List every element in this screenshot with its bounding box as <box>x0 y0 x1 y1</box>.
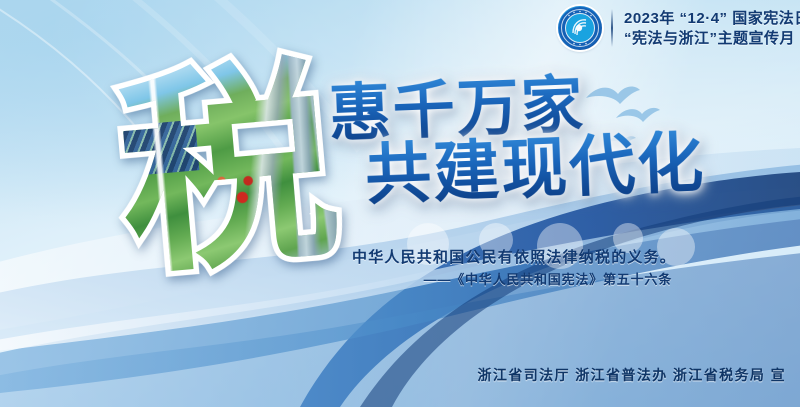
subtitle-block: 中华人民共和国公民有依照法律纳税的义务。 ——《中华人民共和国宪法》第五十六条 <box>352 248 676 289</box>
footer-credits: 浙江省司法厅 浙江省普法办 浙江省税务局 宣 <box>0 365 786 385</box>
main-title-line-2: 共建现代化 <box>364 129 706 208</box>
banner-text-group: 2023年 “12·4” 国家宪法日 “宪法与浙江”主题宣传月 <box>624 10 800 47</box>
tax-character-graphic: 税 税 <box>108 56 348 286</box>
main-title: 惠千万家 共建现代化 <box>328 67 707 209</box>
poster-canvas: 税 税 惠千万家 共建现代化 <box>0 0 800 407</box>
emblem-artwork <box>558 6 602 50</box>
banner-line-1: 2023年 “12·4” 国家宪法日 <box>624 10 800 27</box>
subtitle-line-1: 中华人民共和国公民有依照法律纳税的义务。 <box>352 248 676 268</box>
header-banner: 2023年 “12·4” 国家宪法日 “宪法与浙江”主题宣传月 <box>558 6 800 50</box>
subtitle-line-2: ——《中华人民共和国宪法》第五十六条 <box>352 270 676 289</box>
banner-line-2: “宪法与浙江”主题宣传月 <box>624 30 800 47</box>
constitution-day-emblem-icon <box>558 6 602 50</box>
tax-character-photo-fill: 税 <box>98 46 357 296</box>
banner-divider <box>611 9 613 47</box>
